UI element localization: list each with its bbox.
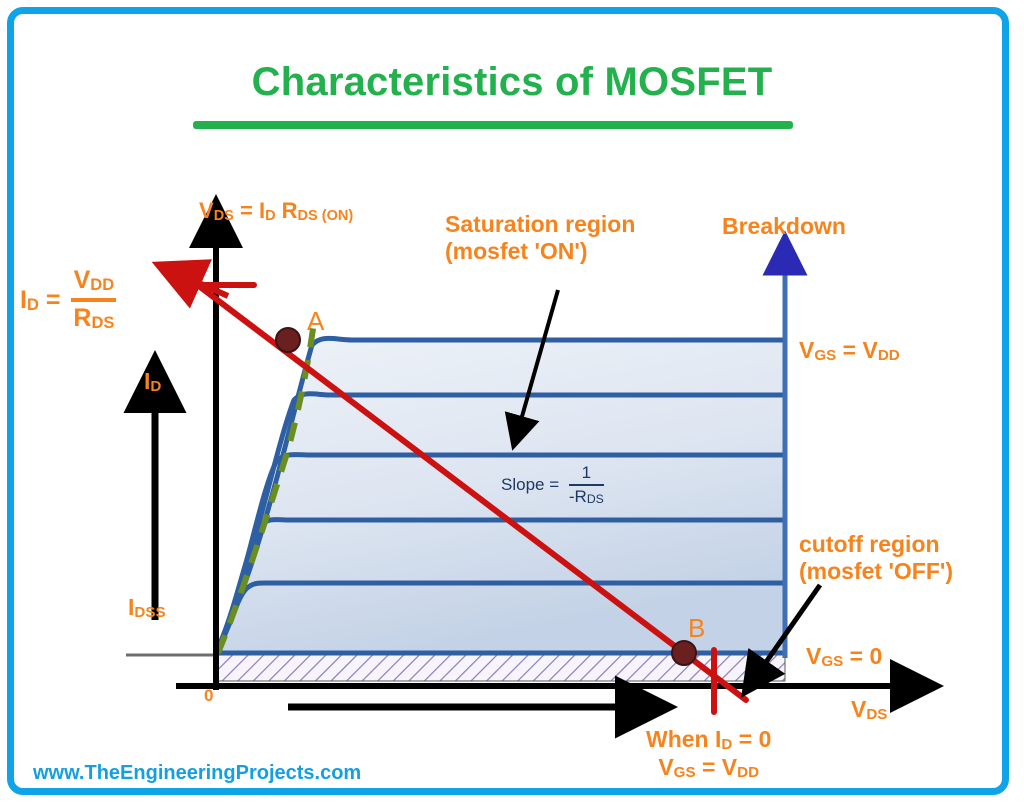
when2-lhs-sub: GS [674, 764, 696, 781]
label-vds-equals-id-rds-on: VDS = ID RDS (ON) [199, 198, 353, 224]
vgsvdd-rhs: V [862, 337, 877, 363]
x-axis-v: V [851, 696, 866, 722]
diagram-stage: Characteristics of MOSFET [0, 0, 1024, 810]
vds-r-sub: DS [298, 208, 318, 224]
vds-v: V [199, 198, 214, 223]
vgs0-lhs-sub: GS [821, 653, 843, 670]
vgs0-lhs: V [806, 643, 821, 669]
cutoff-line-2: (mosfet 'OFF') [799, 558, 1014, 585]
slope-formula: Slope = 1 / -R_DS Slope = 1-RDS [501, 464, 604, 508]
vds-eq: = [234, 198, 259, 223]
slope-denominator: -RDS [569, 487, 604, 507]
mosfet-characteristics-chart [0, 0, 1024, 810]
when-i-sub: D [721, 736, 732, 753]
id-lhs: I [20, 286, 27, 314]
origin-label: 0 [204, 686, 213, 706]
when2-rhs: V [722, 754, 737, 780]
fraction-denominator: RDS [71, 304, 116, 334]
when-line-2: VGS = VDD [646, 754, 771, 782]
point-a-label: A [307, 306, 324, 337]
label-idss: IDSS [128, 594, 166, 621]
saturation-line-1: Saturation region [445, 211, 710, 238]
when2-eq: = [696, 754, 722, 780]
when2-lhs: V [658, 754, 673, 780]
when-post: = 0 [732, 726, 771, 752]
x-axis-v-sub: DS [866, 706, 887, 723]
label-cutoff-region: cutoff region (mosfet 'OFF') [799, 531, 1014, 585]
label-vgs-equals-zero: VGS = 0 [806, 643, 882, 670]
operating-point-a [276, 328, 300, 352]
saturation-line-2: (mosfet 'ON') [445, 238, 710, 265]
label-id-equals-vdd-over-rds: ID = VDD RDS [20, 268, 116, 335]
slope-numerator: 1 [569, 463, 604, 483]
vds-r: R [276, 198, 298, 223]
vgsvdd-lhs: V [799, 337, 814, 363]
label-saturation-region: Saturation region (mosfet 'ON') [445, 211, 710, 265]
vgsvdd-lhs-sub: GS [814, 347, 836, 364]
label-when-id-zero: When ID = 0 VGS = VDD [646, 726, 771, 781]
cutoff-line-1: cutoff region [799, 531, 1014, 558]
fraction-bar [71, 298, 116, 302]
slope-text: Slope = [501, 475, 564, 494]
footer-url: www.TheEngineeringProjects.com [33, 762, 361, 785]
y-axis-label-id: ID [144, 368, 161, 395]
vds-v-sub: DS [214, 208, 234, 224]
id-lhs-sub: D [27, 296, 39, 314]
vdd-over-rds-fraction: VDD RDS [71, 266, 116, 333]
vgsvdd-eq: = [836, 337, 862, 363]
when-pre: When [646, 726, 715, 752]
vds-i-sub: D [265, 208, 275, 224]
vds-on-paren: (ON) [318, 208, 353, 224]
x-axis-label-vds: VDS [851, 696, 887, 723]
y-axis-i-sub: D [150, 378, 161, 395]
label-breakdown: Breakdown [722, 213, 846, 240]
slope-bar [569, 484, 604, 486]
idss-sub: DSS [134, 604, 165, 621]
when-line-1: When ID = 0 [646, 726, 771, 754]
vgsvdd-rhs-sub: DD [878, 347, 900, 364]
vgs0-eq: = 0 [843, 643, 882, 669]
label-vgs-equals-vdd: VGS = VDD [799, 337, 900, 364]
when2-rhs-sub: DD [737, 764, 759, 781]
id-equals: = [46, 286, 61, 314]
fraction-numerator: VDD [71, 266, 116, 296]
operating-point-b [672, 641, 696, 665]
slope-fraction: 1-RDS [569, 463, 604, 507]
point-b-label: B [688, 613, 705, 644]
